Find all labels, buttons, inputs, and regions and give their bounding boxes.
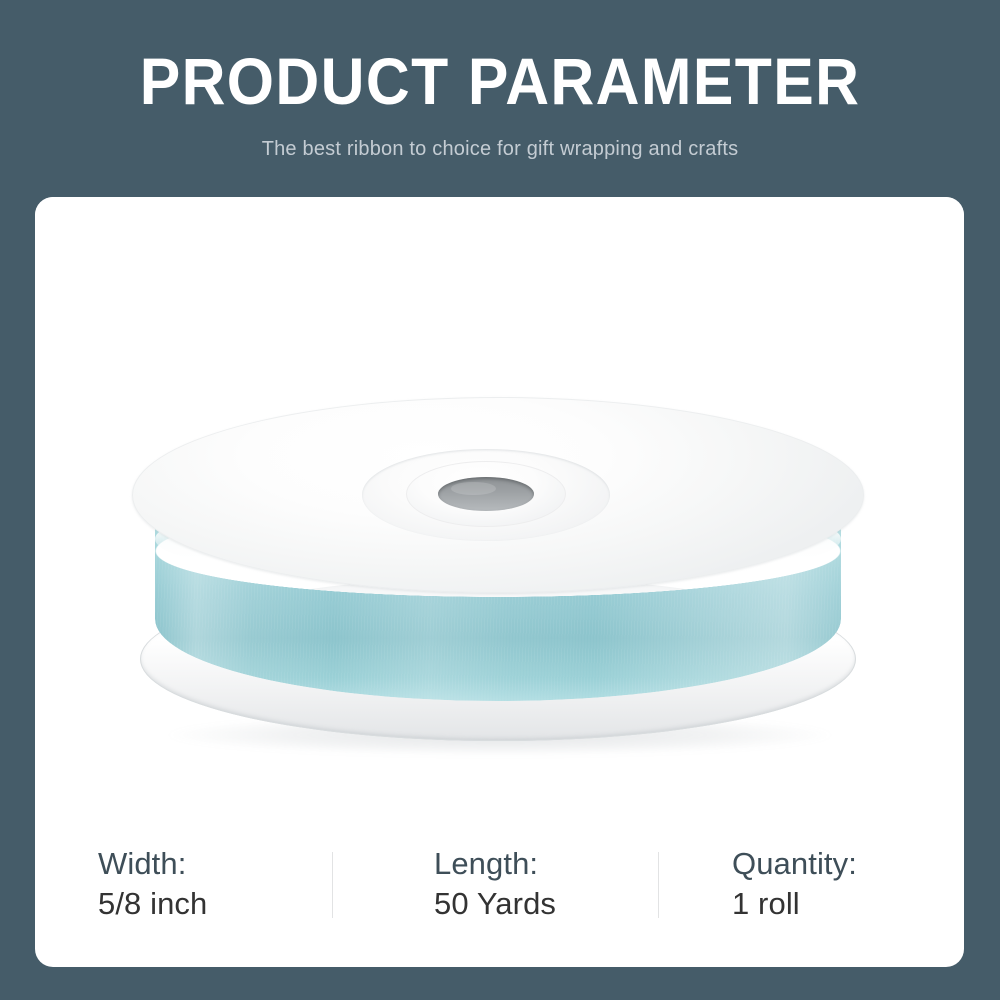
spec-label-quantity: Quantity: xyxy=(732,844,964,884)
spec-value-length: 50 Yards xyxy=(434,884,659,924)
product-photo xyxy=(35,197,964,817)
page-title: PRODUCT PARAMETER xyxy=(40,48,960,114)
spec-item-quantity: Quantity: 1 roll xyxy=(659,817,964,923)
header-banner: PRODUCT PARAMETER The best ribbon to cho… xyxy=(0,0,1000,197)
spec-item-length: Length: 50 Yards xyxy=(333,817,659,923)
spec-label-length: Length: xyxy=(434,844,659,884)
page-subtitle: The best ribbon to choice for gift wrapp… xyxy=(0,138,1000,161)
spec-value-quantity: 1 roll xyxy=(732,884,964,924)
ribbon-spool-illustration xyxy=(120,397,880,757)
product-card: Width: 5/8 inch Length: 50 Yards Quantit… xyxy=(35,197,964,967)
specifications-row: Width: 5/8 inch Length: 50 Yards Quantit… xyxy=(35,817,964,967)
spec-label-width: Width: xyxy=(98,844,333,884)
spool-center-hole xyxy=(438,477,534,511)
spec-item-width: Width: 5/8 inch xyxy=(35,817,333,923)
spec-value-width: 5/8 inch xyxy=(98,884,333,924)
